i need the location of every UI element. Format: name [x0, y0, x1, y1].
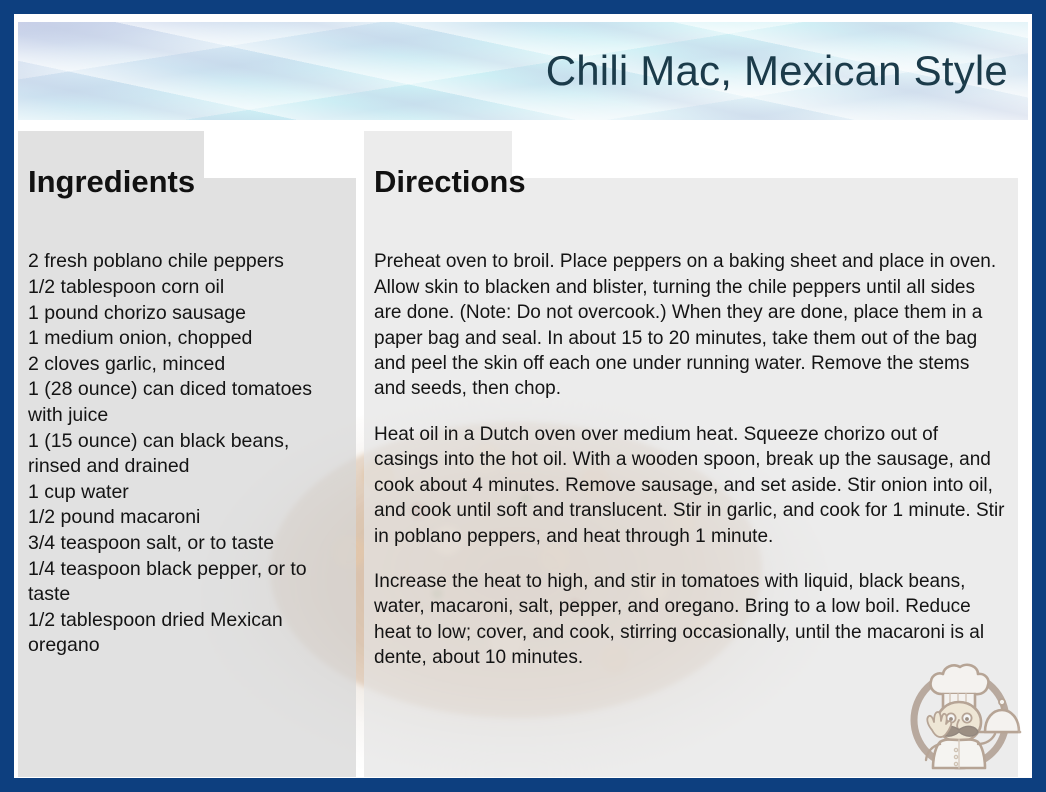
ingredient-item: 1 (15 ounce) can black beans, rinsed and… — [28, 429, 344, 480]
chef-logo — [896, 650, 1024, 774]
ingredient-item: 1 pound chorizo sausage — [28, 301, 344, 327]
ingredient-item: 1 medium onion, chopped — [28, 326, 344, 352]
ingredient-item: 2 fresh poblano chile peppers — [28, 249, 344, 275]
title-banner: Chili Mac, Mexican Style — [18, 22, 1028, 120]
ingredient-item: 1/2 pound macaroni — [28, 505, 344, 531]
ingredient-item: 1/2 tablespoon corn oil — [28, 275, 344, 301]
directions-heading: Directions — [364, 157, 1018, 202]
direction-paragraph: Heat oil in a Dutch oven over medium hea… — [374, 422, 1006, 549]
directions-body: Preheat oven to broil. Place peppers on … — [364, 227, 1018, 670]
direction-paragraph: Preheat oven to broil. Place peppers on … — [374, 249, 1006, 401]
ingredient-item: 1 cup water — [28, 480, 344, 506]
page-title: Chili Mac, Mexican Style — [546, 47, 1028, 95]
ingredient-item: 1 (28 ounce) can diced tomatoes with jui… — [28, 377, 344, 428]
ingredient-item: 1/2 tablespoon dried Mexican oregano — [28, 608, 344, 659]
ingredients-heading: Ingredients — [18, 157, 356, 202]
ingredient-item: 3/4 teaspoon salt, or to taste — [28, 531, 344, 557]
ingredient-item: 1/4 teaspoon black pepper, or to taste — [28, 557, 344, 608]
ingredients-list: 2 fresh poblano chile peppers1/2 tablesp… — [18, 227, 356, 659]
ingredient-item: 2 cloves garlic, minced — [28, 352, 344, 378]
recipe-card: Chili Mac, Mexican Style Ingredients 2 f… — [0, 0, 1046, 792]
ingredients-panel: Ingredients 2 fresh poblano chile pepper… — [18, 131, 356, 777]
panels-container: Ingredients 2 fresh poblano chile pepper… — [14, 131, 1032, 778]
